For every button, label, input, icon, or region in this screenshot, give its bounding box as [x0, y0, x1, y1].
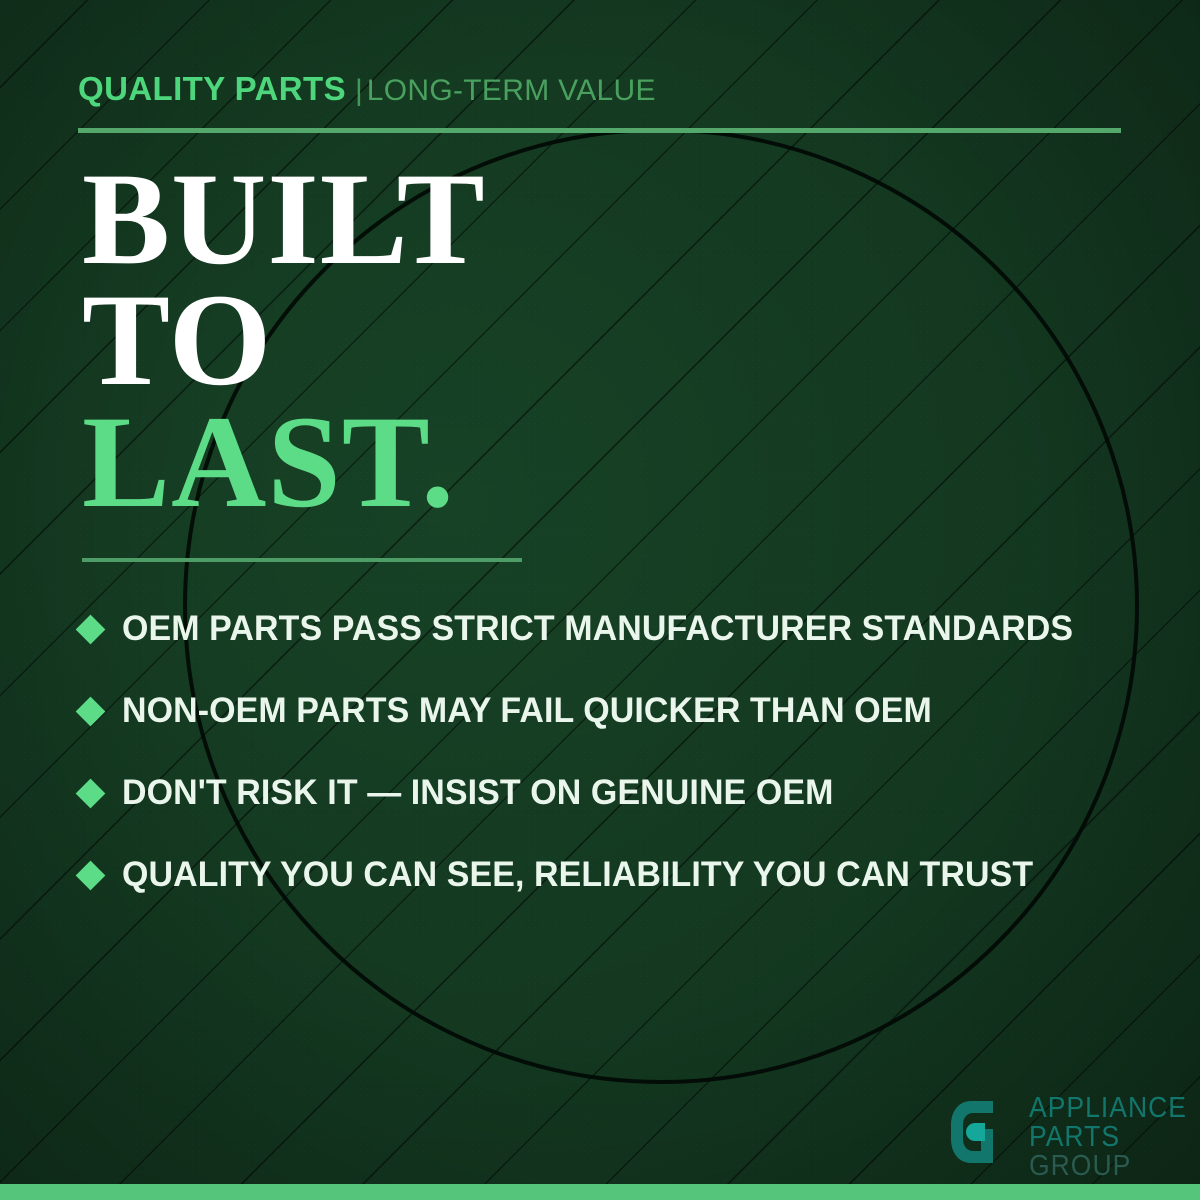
- diamond-bullet-icon: [76, 860, 106, 890]
- diamond-bullet-icon: [76, 696, 106, 726]
- header-divider-rule: [78, 128, 1121, 133]
- bottom-accent-bar: [0, 1184, 1200, 1200]
- list-item-label: OEM PARTS PASS STRICT MANUFACTURER STAND…: [122, 609, 1073, 649]
- brand-logo: APPLIANCE PARTS GROUP: [947, 1093, 1199, 1181]
- kicker-strong-text: QUALITY PARTS: [78, 70, 346, 107]
- page-title: BUILT TO LAST.: [82, 158, 486, 522]
- poster-canvas: QUALITY PARTS|LONG-TERM VALUE BUILT TO L…: [0, 0, 1200, 1200]
- headline-divider-rule: [82, 558, 522, 562]
- list-item: QUALITY YOU CAN SEE, RELIABILITY YOU CAN…: [80, 834, 1160, 916]
- list-item-label: DON'T RISK IT — INSIST ON GENUINE OEM: [122, 773, 833, 813]
- list-item-label: QUALITY YOU CAN SEE, RELIABILITY YOU CAN…: [122, 855, 1033, 895]
- list-item: DON'T RISK IT — INSIST ON GENUINE OEM: [80, 752, 1160, 834]
- headline-line-2: TO: [82, 279, 486, 400]
- brand-word-line-2: PARTS: [1029, 1123, 1187, 1152]
- diamond-bullet-icon: [76, 614, 106, 644]
- headline-line-3: LAST.: [82, 401, 486, 522]
- brand-word-line-3: GROUP: [1029, 1152, 1187, 1181]
- brand-wordmark: APPLIANCE PARTS GROUP: [1029, 1093, 1199, 1181]
- benefit-list: OEM PARTS PASS STRICT MANUFACTURER STAND…: [80, 588, 1160, 916]
- list-item: OEM PARTS PASS STRICT MANUFACTURER STAND…: [80, 588, 1160, 670]
- brand-word-line-1: APPLIANCE: [1029, 1094, 1187, 1123]
- g-monogram-icon: [947, 1093, 1019, 1171]
- kicker-eyebrow: QUALITY PARTS|LONG-TERM VALUE: [78, 72, 656, 106]
- headline-line-1: BUILT: [82, 158, 486, 279]
- kicker-light-text: LONG-TERM VALUE: [367, 74, 656, 107]
- list-item-label: NON-OEM PARTS MAY FAIL QUICKER THAN OEM: [122, 691, 932, 731]
- poster-content: QUALITY PARTS|LONG-TERM VALUE BUILT TO L…: [0, 0, 1200, 1200]
- diamond-bullet-icon: [76, 778, 106, 808]
- list-item: NON-OEM PARTS MAY FAIL QUICKER THAN OEM: [80, 670, 1160, 752]
- kicker-separator: |: [355, 74, 363, 107]
